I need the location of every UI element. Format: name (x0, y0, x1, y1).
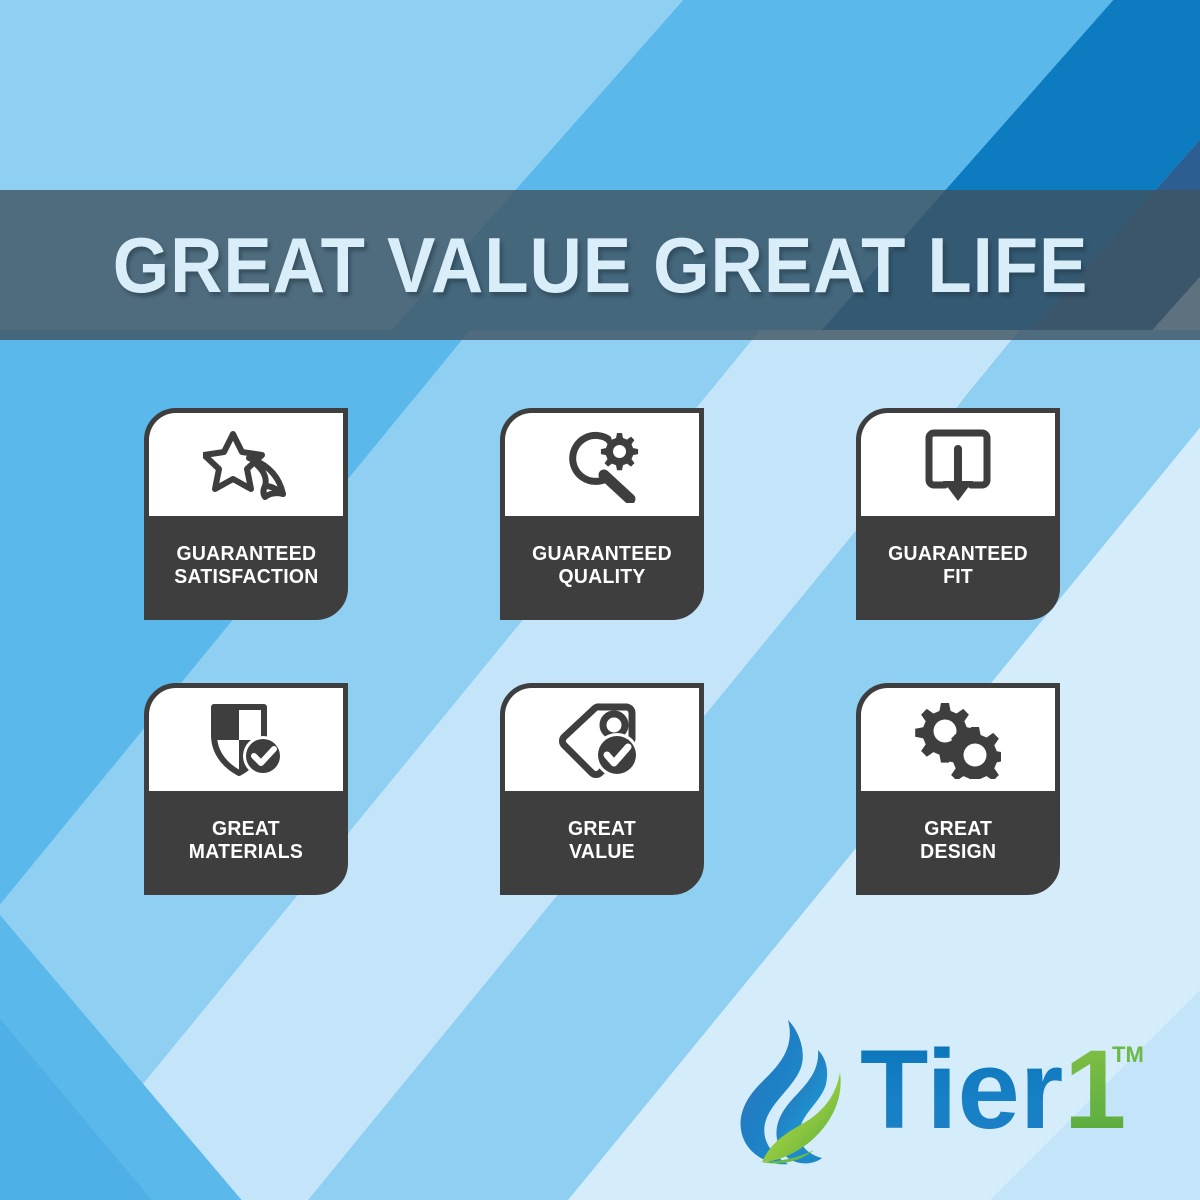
badge-label-area: GUARANTEED FIT (861, 516, 1055, 615)
badge-label-area: GREAT VALUE (505, 791, 699, 890)
price-tag-check-icon (556, 701, 648, 779)
badge-label: GREAT DESIGN (920, 818, 996, 863)
promo-graphic: GREAT VALUE GREAT LIFE GUARANTEED SATISF… (0, 0, 1200, 1200)
badge-label: GUARANTEED FIT (888, 543, 1028, 588)
badge-label: GREAT MATERIALS (189, 818, 303, 863)
badge-icon-area (861, 413, 1055, 516)
shooting-star-icon (203, 428, 289, 502)
badge-great-materials[interactable]: GREAT MATERIALS (144, 683, 348, 895)
badge-label-area: GUARANTEED QUALITY (505, 516, 699, 615)
logo-brand-word: Tier (860, 1032, 1063, 1152)
badge-icon-area (149, 413, 343, 516)
badge-icon-area (505, 688, 699, 791)
badge-label-area: GREAT MATERIALS (149, 791, 343, 890)
badge-icon-area (149, 688, 343, 791)
page-title: GREAT VALUE GREAT LIFE (112, 226, 1088, 304)
magnifier-gear-icon (560, 427, 644, 503)
badge-label-area: GREAT DESIGN (861, 791, 1055, 890)
badge-icon-area (861, 688, 1055, 791)
badge-great-design[interactable]: GREAT DESIGN (856, 683, 1060, 895)
badge-guaranteed-fit[interactable]: GUARANTEED FIT (856, 408, 1060, 620)
fit-arrow-box-icon (923, 427, 993, 503)
badge-great-value[interactable]: GREAT VALUE (500, 683, 704, 895)
logo-trademark: TM (1112, 1042, 1144, 1067)
shield-check-icon (206, 701, 286, 779)
two-gears-icon (915, 701, 1001, 779)
tier1-wordmark: Tier 1 TM (860, 1032, 1156, 1152)
flame-leaf-droplet-icon (726, 1016, 854, 1168)
feature-badge-grid: GUARANTEED SATISFACTION GUARANTEED QUA (144, 408, 1064, 895)
badge-guaranteed-satisfaction[interactable]: GUARANTEED SATISFACTION (144, 408, 348, 620)
badge-label: GREAT VALUE (568, 818, 636, 863)
banner-bar: GREAT VALUE GREAT LIFE (0, 190, 1200, 340)
badge-guaranteed-quality[interactable]: GUARANTEED QUALITY (500, 408, 704, 620)
badge-label: GUARANTEED QUALITY (532, 543, 672, 588)
badge-label: GUARANTEED SATISFACTION (174, 543, 318, 588)
badge-icon-area (505, 413, 699, 516)
tier1-logo[interactable]: Tier 1 TM (726, 1012, 1166, 1172)
badge-label-area: GUARANTEED SATISFACTION (149, 516, 343, 615)
